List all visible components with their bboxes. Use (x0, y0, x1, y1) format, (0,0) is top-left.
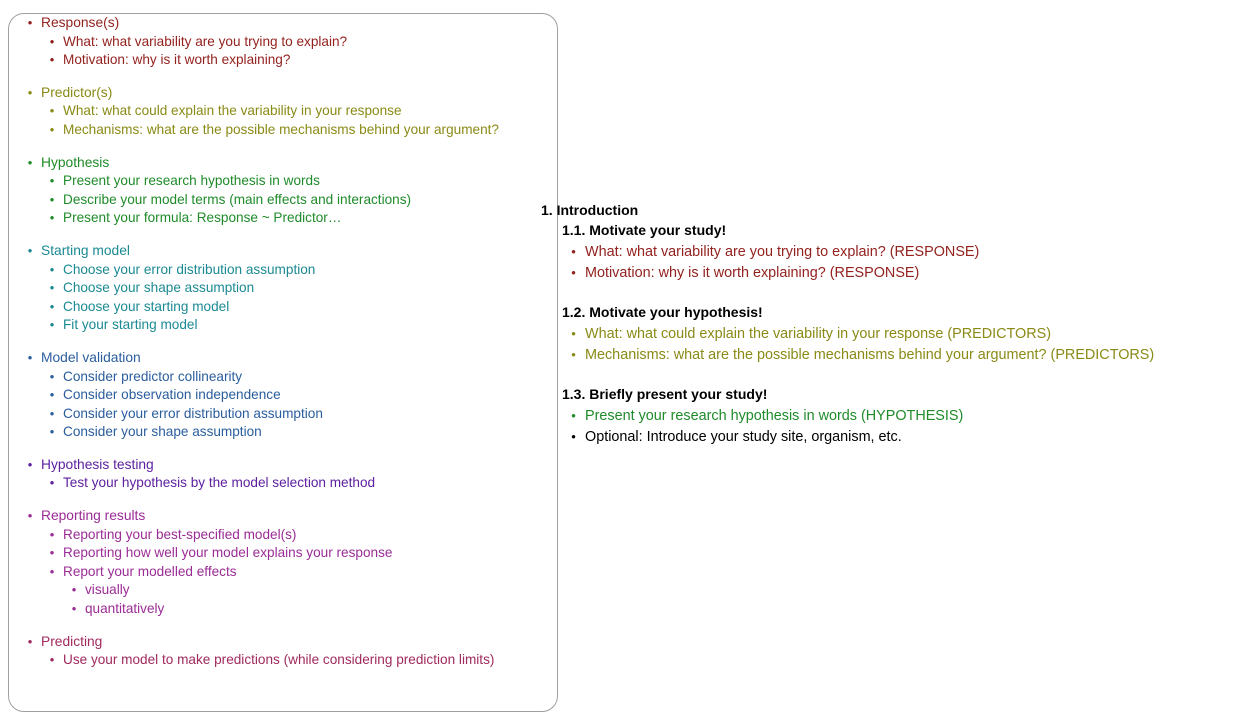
section-bullet-label: Motivation: why is it worth explaining? … (580, 264, 919, 284)
section-briefly-present-your-study: 1.3. Briefly present your study!•Present… (541, 384, 1251, 447)
workflow-outline-list: •Response(s)•What: what variability are … (9, 14, 557, 670)
outline-heading-predictor-label: Predictor(s) (37, 84, 112, 103)
section-heading-briefly-present-your-study: 1.3. Briefly present your study! (562, 384, 1251, 404)
outline-item-label: What: what variability are you trying to… (59, 33, 347, 52)
introduction-title: 1. Introduction (541, 200, 1251, 220)
outline-group-predictor: •Predictor(s)•What: what could explain t… (9, 84, 557, 140)
outline-heading-hypothesis-testing-label: Hypothesis testing (37, 456, 154, 475)
outline-item-label: Consider your shape assumption (59, 423, 262, 442)
outline-heading-starting-model-label: Starting model (37, 242, 130, 261)
outline-item-label: Reporting your best-specified model(s) (59, 526, 296, 545)
outline-item-label: What: what could explain the variability… (59, 102, 402, 121)
bullet-icon: • (23, 84, 37, 103)
outline-subitem: •visually (9, 581, 557, 600)
bullet-icon: • (45, 544, 59, 563)
outline-item-label: Mechanisms: what are the possible mechan… (59, 121, 499, 140)
outline-subitem: •quantitatively (9, 600, 557, 619)
bullet-icon: • (567, 242, 580, 262)
section-bullet-label: Optional: Introduce your study site, org… (580, 428, 902, 448)
outline-item-label: Describe your model terms (main effects … (59, 191, 411, 210)
outline-item: •What: what variability are you trying t… (9, 33, 557, 52)
bullet-icon: • (45, 261, 59, 280)
outline-group-hypothesis-testing: •Hypothesis testing•Test your hypothesis… (9, 456, 557, 493)
bullet-icon: • (45, 651, 59, 670)
bullet-icon: • (45, 121, 59, 140)
section-heading-motivate-your-hypothesis: 1.2. Motivate your hypothesis! (562, 302, 1251, 322)
outline-item: •Test your hypothesis by the model selec… (9, 474, 557, 493)
bullet-icon: • (567, 324, 580, 344)
outline-heading-model-validation: •Model validation (9, 349, 557, 368)
bullet-icon: • (45, 102, 59, 121)
outline-item: •Describe your model terms (main effects… (9, 191, 557, 210)
outline-heading-predicting-label: Predicting (37, 633, 102, 652)
outline-item: •Consider observation independence (9, 386, 557, 405)
outline-item-label: Choose your starting model (59, 298, 229, 317)
bullet-icon: • (23, 507, 37, 526)
bullet-icon: • (23, 349, 37, 368)
outline-heading-starting-model: •Starting model (9, 242, 557, 261)
outline-item: •Reporting your best-specified model(s) (9, 526, 557, 545)
bullet-icon: • (45, 386, 59, 405)
outline-item: •What: what could explain the variabilit… (9, 102, 557, 121)
outline-item: •Fit your starting model (9, 316, 557, 335)
bullet-icon: • (45, 423, 59, 442)
outline-item: •Reporting how well your model explains … (9, 544, 557, 563)
outline-item: •Choose your shape assumption (9, 279, 557, 298)
outline-item: •Consider your error distribution assump… (9, 405, 557, 424)
bullet-icon: • (567, 406, 580, 426)
bullet-icon: • (45, 209, 59, 228)
bullet-icon: • (23, 456, 37, 475)
outline-heading-hypothesis: •Hypothesis (9, 154, 557, 173)
bullet-icon: • (45, 405, 59, 424)
outline-item: •Choose your starting model (9, 298, 557, 317)
bullet-icon: • (567, 345, 580, 365)
outline-item: •Consider your shape assumption (9, 423, 557, 442)
section-bullet-label: What: what could explain the variability… (580, 325, 1051, 345)
outline-item: •Use your model to make predictions (whi… (9, 651, 557, 670)
outline-group-predicting: •Predicting•Use your model to make predi… (9, 633, 557, 670)
outline-heading-reporting-results-label: Reporting results (37, 507, 145, 526)
outline-item-label: Present your formula: Response ~ Predict… (59, 209, 341, 228)
bullet-icon: • (45, 191, 59, 210)
bullet-icon: • (567, 427, 580, 447)
bullet-icon: • (67, 600, 81, 619)
outline-group-starting-model: •Starting model•Choose your error distri… (9, 242, 557, 335)
bullet-icon: • (45, 474, 59, 493)
outline-item: •Report your modelled effects (9, 563, 557, 582)
bullet-icon: • (45, 172, 59, 191)
introduction-sections: 1.1. Motivate your study!•What: what var… (541, 220, 1251, 447)
section-bullet-label: Present your research hypothesis in word… (580, 407, 963, 427)
bullet-icon: • (45, 316, 59, 335)
section-bullet: •Optional: Introduce your study site, or… (541, 427, 1251, 448)
outline-item-label: Reporting how well your model explains y… (59, 544, 392, 563)
outline-item-label: Consider your error distribution assumpt… (59, 405, 323, 424)
outline-item: •Present your research hypothesis in wor… (9, 172, 557, 191)
outline-item-label: Test your hypothesis by the model select… (59, 474, 375, 493)
section-bullet: •Present your research hypothesis in wor… (541, 406, 1251, 427)
bullet-icon: • (45, 526, 59, 545)
outline-group-model-validation: •Model validation•Consider predictor col… (9, 349, 557, 442)
outline-item-label: Present your research hypothesis in word… (59, 172, 320, 191)
section-motivate-your-study: 1.1. Motivate your study!•What: what var… (541, 220, 1251, 283)
outline-group-reporting-results: •Reporting results•Reporting your best-s… (9, 507, 557, 619)
outline-item-label: Fit your starting model (59, 316, 197, 335)
bullet-icon: • (45, 279, 59, 298)
outline-item: •Consider predictor collinearity (9, 368, 557, 387)
bullet-icon: • (45, 563, 59, 582)
outline-heading-response: •Response(s) (9, 14, 557, 33)
outline-heading-model-validation-label: Model validation (37, 349, 141, 368)
section-bullet-label: Mechanisms: what are the possible mechan… (580, 346, 1154, 366)
outline-item: •Motivation: why is it worth explaining? (9, 51, 557, 70)
section-motivate-your-hypothesis: 1.2. Motivate your hypothesis!•What: wha… (541, 302, 1251, 365)
bullet-icon: • (45, 51, 59, 70)
outline-heading-response-label: Response(s) (37, 14, 119, 33)
bullet-icon: • (23, 242, 37, 261)
outline-heading-hypothesis-testing: •Hypothesis testing (9, 456, 557, 475)
outline-group-response: •Response(s)•What: what variability are … (9, 14, 557, 70)
section-bullet-label: What: what variability are you trying to… (580, 243, 979, 263)
section-bullet: •Mechanisms: what are the possible mecha… (541, 345, 1251, 366)
outline-subitem-label: visually (81, 581, 130, 600)
bullet-icon: • (45, 368, 59, 387)
bullet-icon: • (45, 298, 59, 317)
outline-heading-reporting-results: •Reporting results (9, 507, 557, 526)
workflow-outline-panel: •Response(s)•What: what variability are … (8, 13, 558, 712)
bullet-icon: • (67, 581, 81, 600)
section-heading-motivate-your-study: 1.1. Motivate your study! (562, 220, 1251, 240)
outline-subitem-label: quantitatively (81, 600, 164, 619)
introduction-structure-panel: 1. Introduction 1.1. Motivate your study… (541, 200, 1251, 447)
outline-item-label: Choose your error distribution assumptio… (59, 261, 315, 280)
outline-item: •Present your formula: Response ~ Predic… (9, 209, 557, 228)
outline-item-label: Choose your shape assumption (59, 279, 254, 298)
outline-heading-hypothesis-label: Hypothesis (37, 154, 109, 173)
section-bullet: •Motivation: why is it worth explaining?… (541, 263, 1251, 284)
bullet-icon: • (567, 263, 580, 283)
outline-item: •Choose your error distribution assumpti… (9, 261, 557, 280)
section-bullet: •What: what variability are you trying t… (541, 242, 1251, 263)
outline-item-label: Motivation: why is it worth explaining? (59, 51, 290, 70)
bullet-icon: • (23, 14, 37, 33)
section-bullet: •What: what could explain the variabilit… (541, 324, 1251, 345)
outline-item: •Mechanisms: what are the possible mecha… (9, 121, 557, 140)
bullet-icon: • (23, 154, 37, 173)
outline-item-label: Use your model to make predictions (whil… (59, 651, 494, 670)
outline-group-hypothesis: •Hypothesis•Present your research hypoth… (9, 154, 557, 228)
bullet-icon: • (45, 33, 59, 52)
outline-item-label: Report your modelled effects (59, 563, 237, 582)
outline-heading-predictor: •Predictor(s) (9, 84, 557, 103)
bullet-icon: • (23, 633, 37, 652)
outline-heading-predicting: •Predicting (9, 633, 557, 652)
outline-item-label: Consider predictor collinearity (59, 368, 242, 387)
outline-item-label: Consider observation independence (59, 386, 281, 405)
